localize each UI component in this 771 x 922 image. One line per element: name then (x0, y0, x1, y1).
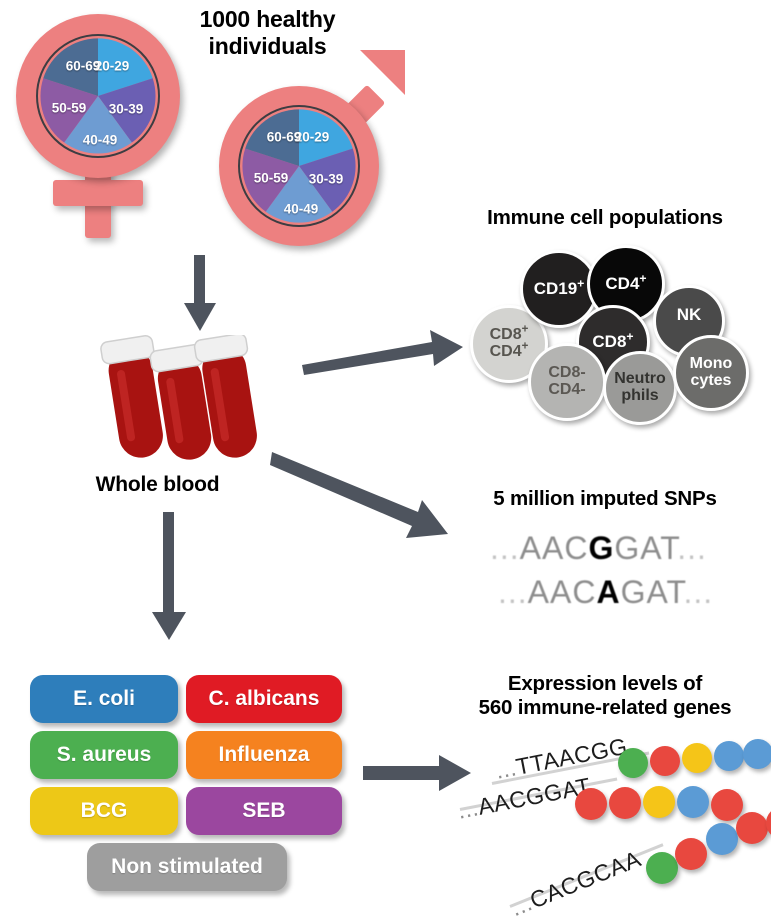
expression-title-line2: 560 immune-related genes (440, 696, 770, 720)
male-age-pie-chart: 20-29 30-39 40-49 50-59 60-69 (238, 105, 360, 227)
male-pie-label-40-49: 40-49 (284, 202, 319, 217)
stimulation-saureus[interactable]: S. aureus (30, 731, 178, 779)
neutrophils-line1: Neutro (614, 370, 666, 387)
immune-populations-title: Immune cell populations (440, 206, 770, 230)
snp2-left: AAC (528, 574, 597, 610)
strand-1-bases: TTAACGG (514, 733, 630, 780)
male-pie-label-30-39: 30-39 (309, 172, 344, 187)
immune-cell-cd8n-cd4n[interactable]: CD8- CD4- (528, 343, 606, 421)
snps-title: 5 million imputed SNPs (440, 487, 770, 511)
nk-label: NK (677, 305, 702, 324)
snp2-suffix: ... (683, 574, 713, 610)
stimulation-non-stimulated[interactable]: Non stimulated (87, 843, 287, 891)
cd8n-cd4n-line2: CD4- (548, 381, 585, 398)
strand-2-bead-5 (711, 789, 743, 821)
snp1-right: GAT (614, 530, 677, 566)
figure-canvas: 1000 healthy individuals 20-29 30-39 40-… (0, 0, 771, 922)
strand-1-bead-3 (682, 743, 712, 773)
female-pie-label-40-49: 40-49 (83, 133, 118, 148)
snp1-variant: G (588, 530, 614, 566)
blood-tubes-icon (90, 335, 280, 470)
cd8p-cd4p-sup2: + (522, 341, 529, 353)
strand-2-sequence: ...AACGGAT (455, 773, 593, 825)
cd8p-cd4p-line2: CD4 (490, 343, 522, 360)
strand-2-bead-2 (609, 787, 641, 819)
expression-title: Expression levels of 560 immune-related … (440, 672, 770, 720)
cd19-sup: + (577, 276, 584, 290)
male-pie-label-60-69: 60-69 (267, 130, 302, 145)
snp1-suffix: ... (677, 530, 707, 566)
strand-3-sequence: ...CACGCAA (507, 845, 645, 922)
cd8-label: CD8 (592, 332, 626, 351)
stimulation-ecoli[interactable]: E. coli (30, 675, 178, 723)
expression-strands: ...TTAACGG ...AACGGAT ...CACGCAA (470, 740, 770, 915)
female-pie-label-50-59: 50-59 (52, 101, 87, 116)
strand-3-bead-2 (675, 838, 707, 870)
neutrophils-line2: phils (621, 387, 658, 404)
cd4-label: CD4 (605, 274, 639, 293)
strand-2-bead-3 (643, 786, 675, 818)
arrow-blood-to-snps (270, 450, 460, 550)
strand-2-bead-4 (677, 786, 709, 818)
female-pie-label-60-69: 60-69 (66, 59, 101, 74)
arrow-blood-to-immune (300, 325, 465, 375)
stimulation-calbicans[interactable]: C. albicans (186, 675, 342, 723)
stimulation-seb[interactable]: SEB (186, 787, 342, 835)
monocytes-line2: cytes (691, 372, 732, 389)
strand-3-bead-1 (646, 852, 678, 884)
strand-3-bead-3 (706, 823, 738, 855)
snp2-right: GAT (621, 574, 684, 610)
arrow-stimulation-to-expression (363, 755, 473, 795)
cd8n-cd4n-line1: CD8- (548, 364, 585, 381)
snp1-left: AAC (520, 530, 589, 566)
stimulation-panel: E. coli C. albicans S. aureus Influenza … (30, 675, 340, 895)
strand-3-bases: CACGCAA (526, 845, 644, 913)
stimulation-bcg[interactable]: BCG (30, 787, 178, 835)
cd8p-cd4p-sup1: + (522, 324, 529, 336)
strand-3-bead-4 (736, 812, 768, 844)
snp1-prefix: ... (490, 530, 520, 566)
cd4-sup: + (639, 271, 646, 285)
female-age-pie-chart: 20-29 30-39 40-49 50-59 60-69 (36, 34, 160, 158)
female-pie-label-30-39: 30-39 (109, 102, 144, 117)
arrow-down-cohort-to-blood (180, 255, 220, 335)
strand-1-bead-2 (650, 746, 680, 776)
snp-sequence-block: ...AACGGAT... ...AACAGAT... (490, 530, 770, 625)
strand-1-bead-1 (618, 748, 648, 778)
strand-2-bases: AACGGAT (476, 773, 593, 820)
cd8p-cd4p-line1: CD8 (490, 326, 522, 343)
monocytes-line1: Mono (690, 355, 733, 372)
strand-2-bead-1 (575, 788, 607, 820)
cd19-label: CD19 (534, 279, 577, 298)
expression-title-line1: Expression levels of (440, 672, 770, 696)
snp2-variant: A (596, 574, 620, 610)
female-gender-symbol: 20-29 30-39 40-49 50-59 60-69 (8, 8, 198, 238)
snp2-prefix: ... (498, 574, 528, 610)
male-gender-symbol: 20-29 30-39 40-49 50-59 60-69 (205, 50, 405, 250)
stimulation-influenza[interactable]: Influenza (186, 731, 342, 779)
male-pie-label-50-59: 50-59 (254, 171, 289, 186)
immune-cell-cluster: CD8+ CD4+ CD19+ CD4+ NK CD8+ CD8- CD4- (470, 245, 760, 425)
snp-sequence-row-1: ...AACGGAT... (490, 530, 707, 567)
female-symbol-crossbar (53, 180, 143, 206)
immune-cell-neutrophils[interactable]: Neutro phils (603, 351, 677, 425)
whole-blood-label: Whole blood (50, 473, 265, 498)
cd8-sup: + (626, 329, 633, 343)
strand-1-bead-5 (743, 739, 771, 769)
arrow-down-blood-to-stimulation (148, 512, 192, 642)
strand-1-bead-4 (714, 741, 744, 771)
immune-cell-monocytes[interactable]: Mono cytes (673, 335, 749, 411)
snp-sequence-row-2: ...AACAGAT... (498, 574, 713, 611)
